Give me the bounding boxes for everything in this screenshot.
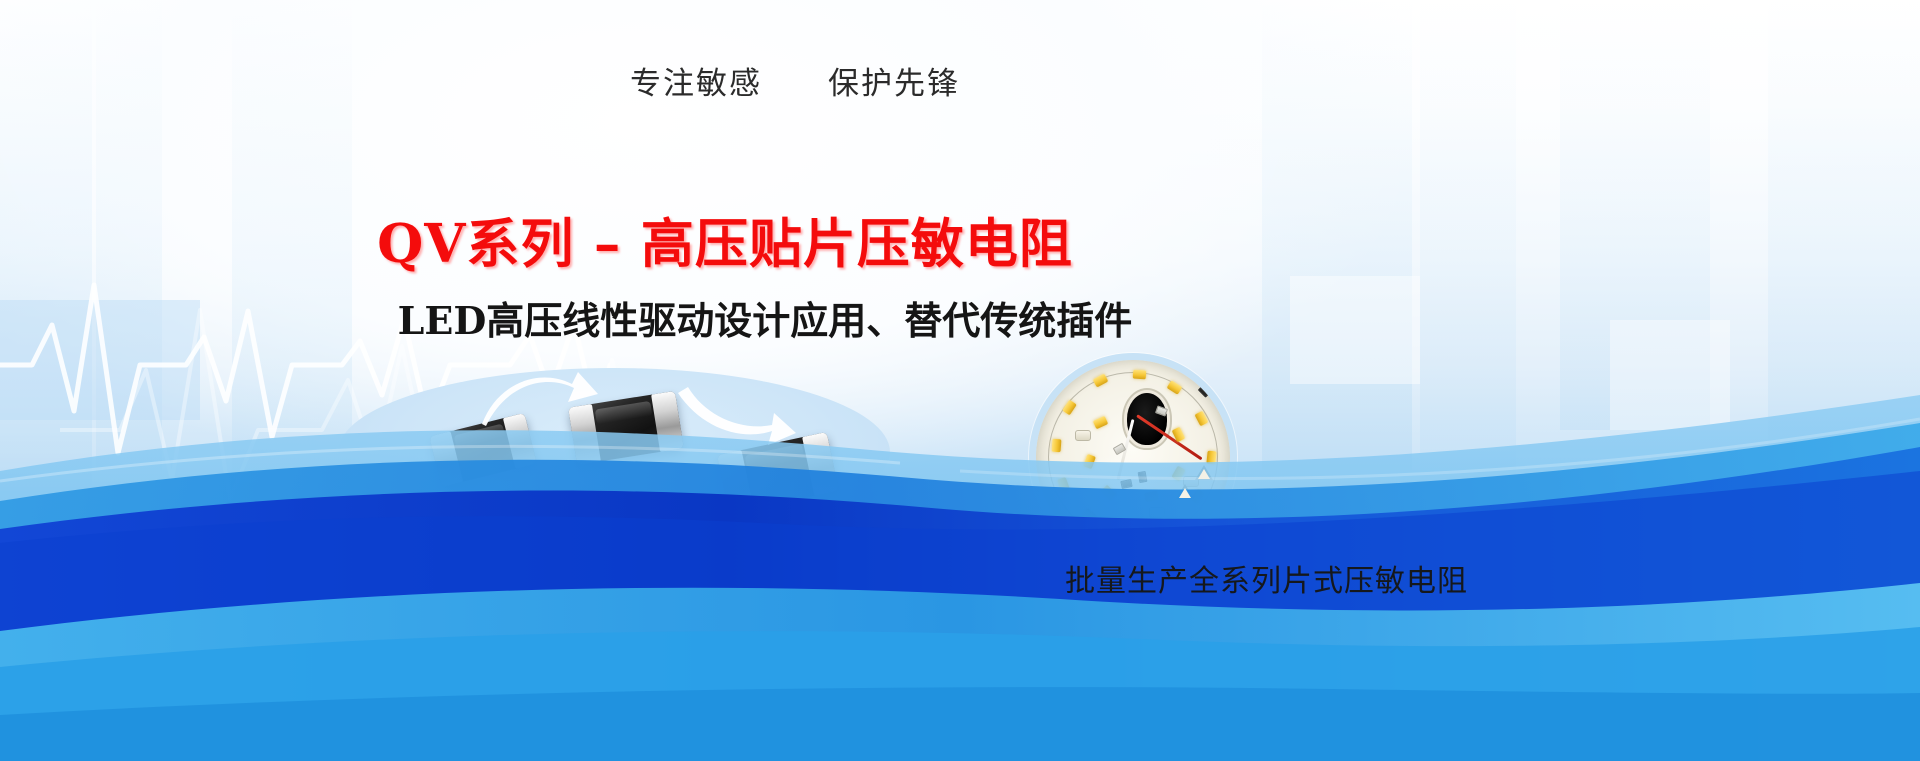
smd-chip-medium [568, 391, 684, 465]
solder-pad [1075, 430, 1091, 441]
led-chip [1133, 369, 1147, 379]
smd-component [1198, 384, 1211, 397]
smd-component [1137, 470, 1147, 482]
led-module-photo [1029, 353, 1237, 561]
led-chip [1121, 526, 1135, 537]
banner-subhead: LED高压线性驱动设计应用、替代传统插件 [0, 290, 1725, 345]
banner-tagline: 专注敏感 保护先锋 [0, 58, 1755, 103]
banner-footnote: 批量生产全系列片式压敏电阻 [1065, 556, 1468, 600]
banner-headline: QV系列 – 高压贴片压敏电阻 [0, 202, 1685, 278]
warning-triangle-icon [1176, 484, 1194, 499]
solder-pad [1149, 507, 1165, 518]
background-band [1768, 0, 1920, 500]
smd-chip-small [429, 413, 537, 487]
smd-chip-large [717, 432, 839, 514]
led-chip [1051, 439, 1061, 453]
product-banner: 专注敏感 保护先锋 QV系列 – 高压贴片压敏电阻 LED高压线性驱动设计应用、… [0, 0, 1920, 761]
warning-triangle-icon [1195, 465, 1213, 480]
wave-decoration [0, 331, 1920, 761]
pcb-ring-trace [1048, 372, 1219, 543]
led-pcb-surface [1036, 360, 1230, 554]
led-chip [1206, 451, 1216, 465]
